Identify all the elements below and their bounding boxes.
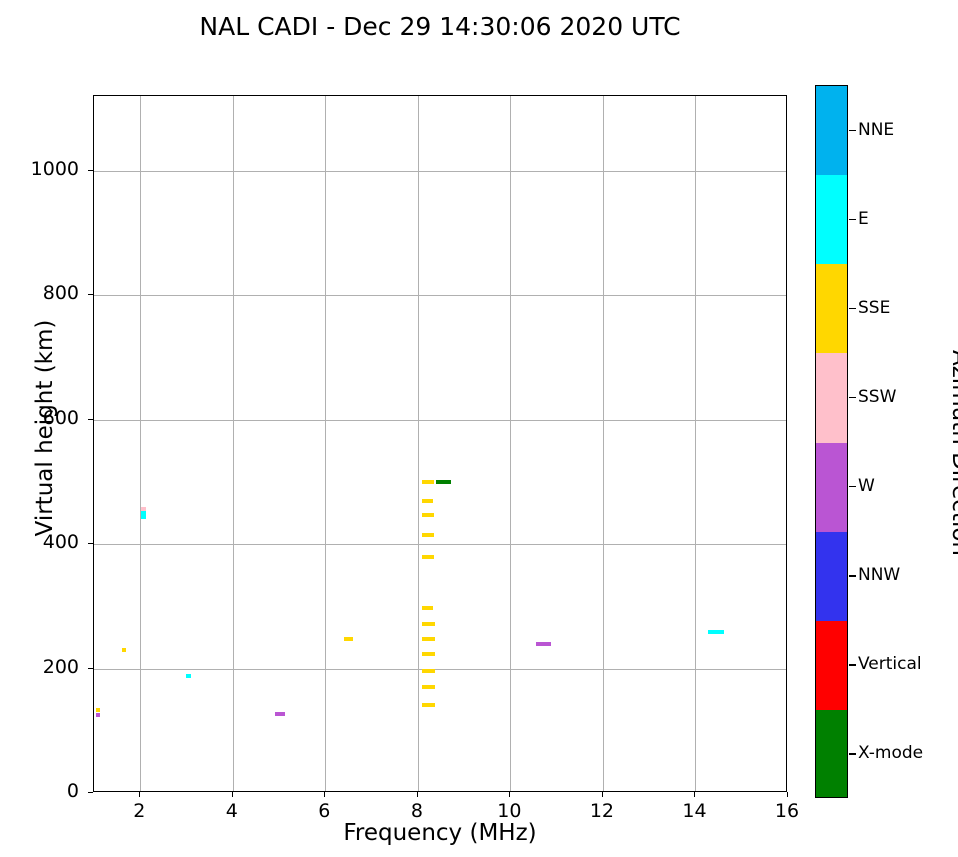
y-tick (88, 543, 93, 544)
x-tick (509, 792, 510, 797)
colorbar-label-e: E (858, 209, 869, 229)
colorbar-label-x-mode: X-mode (858, 743, 923, 763)
data-marker (436, 480, 451, 484)
x-tick (139, 792, 140, 797)
colorbar-tick (849, 664, 856, 665)
x-axis-label: Frequency (MHz) (93, 820, 787, 846)
gridline-vertical (603, 96, 604, 791)
x-tick-label: 8 (387, 800, 447, 822)
x-tick (694, 792, 695, 797)
data-marker (422, 622, 434, 626)
colorbar-tick (849, 308, 856, 309)
data-marker (422, 669, 434, 673)
data-marker (422, 685, 434, 689)
data-marker (422, 555, 433, 559)
gridline-vertical (510, 96, 511, 791)
data-marker (422, 703, 434, 707)
data-marker (422, 499, 432, 503)
colorbar-segment-w[interactable] (816, 443, 847, 532)
x-tick-label: 14 (664, 800, 724, 822)
y-tick (88, 792, 93, 793)
data-marker (422, 637, 434, 641)
colorbar-segment-nnw[interactable] (816, 532, 847, 621)
colorbar-label-vertical: Vertical (858, 654, 922, 674)
colorbar-tick (849, 130, 856, 131)
colorbar-tick (849, 575, 856, 576)
data-marker (422, 652, 434, 656)
gridline-horizontal (94, 420, 786, 421)
x-tick-label: 4 (202, 800, 262, 822)
x-tick (417, 792, 418, 797)
colorbar-tick (849, 219, 856, 220)
colorbar-segment-e[interactable] (816, 175, 847, 264)
data-marker (536, 642, 551, 646)
data-marker (422, 480, 434, 484)
gridline-horizontal (94, 295, 786, 296)
data-marker (141, 515, 146, 519)
y-axis-label: Virtual height (km) (32, 258, 58, 598)
y-tick-label: 200 (9, 656, 79, 678)
colorbar-tick (849, 486, 856, 487)
y-tick (88, 668, 93, 669)
gridline-vertical (140, 96, 141, 791)
x-tick (602, 792, 603, 797)
y-tick-label: 1000 (9, 158, 79, 180)
data-marker (422, 606, 433, 610)
y-tick (88, 294, 93, 295)
x-tick-label: 2 (109, 800, 169, 822)
y-tick-label: 0 (9, 780, 79, 802)
gridline-horizontal (94, 171, 786, 172)
colorbar-label-nne: NNE (858, 120, 894, 140)
colorbar-title: Azimuth Direction (947, 283, 958, 623)
x-tick-label: 10 (479, 800, 539, 822)
colorbar-segment-vertical[interactable] (816, 621, 847, 710)
colorbar-tick (849, 397, 856, 398)
data-marker (122, 648, 127, 652)
colorbar-segment-sse[interactable] (816, 264, 847, 353)
x-tick (324, 792, 325, 797)
gridline-vertical (325, 96, 326, 791)
gridline-horizontal (94, 669, 786, 670)
colorbar-segment-nne[interactable] (816, 86, 847, 175)
gridline-vertical (233, 96, 234, 791)
data-marker (422, 513, 433, 517)
page-title: NAL CADI - Dec 29 14:30:06 2020 UTC (0, 12, 880, 41)
colorbar-label-ssw: SSW (858, 387, 896, 407)
data-marker (344, 637, 353, 641)
x-tick (787, 792, 788, 797)
y-tick (88, 419, 93, 420)
data-marker (186, 674, 192, 678)
x-tick (232, 792, 233, 797)
colorbar-label-sse: SSE (858, 298, 890, 318)
colorbar-segment-ssw[interactable] (816, 353, 847, 442)
plot-area[interactable] (93, 95, 787, 792)
colorbar-label-nnw: NNW (858, 565, 900, 585)
data-marker (96, 713, 99, 717)
colorbar[interactable] (815, 85, 848, 798)
data-marker (275, 712, 284, 716)
gridline-vertical (695, 96, 696, 791)
gridline-vertical (418, 96, 419, 791)
y-tick (88, 170, 93, 171)
x-tick-label: 6 (294, 800, 354, 822)
ionogram-figure: NAL CADI - Dec 29 14:30:06 2020 UTC 2468… (0, 0, 958, 857)
x-tick-label: 12 (572, 800, 632, 822)
colorbar-label-w: W (858, 476, 875, 496)
colorbar-segment-x-mode[interactable] (816, 710, 847, 798)
x-tick-label: 16 (757, 800, 817, 822)
colorbar-tick (849, 753, 856, 754)
data-marker (422, 533, 433, 537)
data-marker (708, 630, 724, 634)
gridline-horizontal (94, 544, 786, 545)
